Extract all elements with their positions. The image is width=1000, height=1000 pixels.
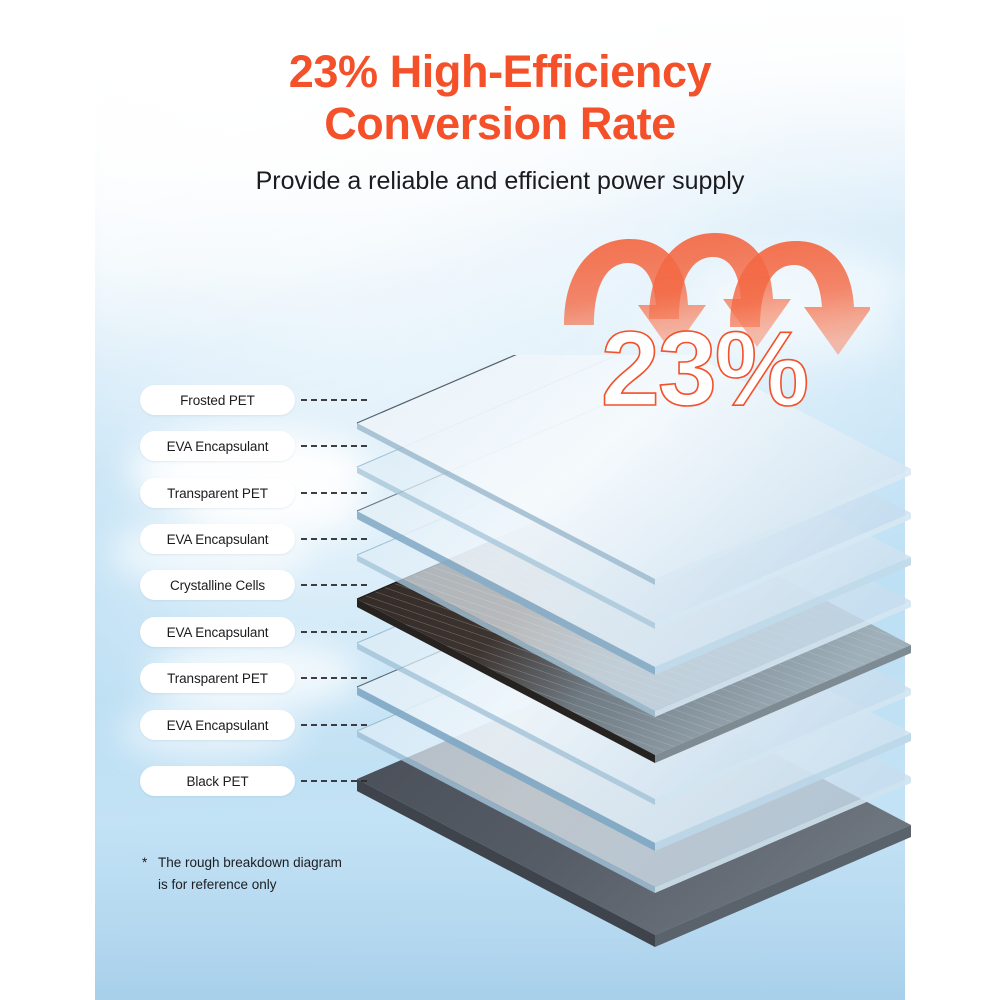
layer-label-eva-encapsulant-2[interactable]: EVA Encapsulant [140, 524, 367, 554]
layer-label-pill: Black PET [140, 766, 295, 796]
layer-label-pill: Transparent PET [140, 663, 295, 693]
layer-label-frosted-pet[interactable]: Frosted PET [140, 385, 367, 415]
layer-label-pill: Transparent PET [140, 478, 295, 508]
leader-line [301, 492, 367, 494]
leader-line [301, 538, 367, 540]
layer-label-pill: EVA Encapsulant [140, 431, 295, 461]
leader-line [301, 399, 367, 401]
layer-label-black-pet[interactable]: Black PET [140, 766, 367, 796]
layer-label-pill: EVA Encapsulant [140, 617, 295, 647]
footnote-line-1: The rough breakdown diagram [158, 852, 442, 874]
layer-label-eva-encapsulant-3[interactable]: EVA Encapsulant [140, 617, 367, 647]
layer-label-pill: EVA Encapsulant [140, 524, 295, 554]
footnote-line-2: is for reference only [158, 874, 442, 896]
layer-label-eva-encapsulant-1[interactable]: EVA Encapsulant [140, 431, 367, 461]
layer-label-list: Frosted PET EVA Encapsulant Transparent … [0, 0, 1000, 1000]
leader-line [301, 631, 367, 633]
leader-line [301, 445, 367, 447]
layer-label-pill: Frosted PET [140, 385, 295, 415]
layer-label-crystalline-cells[interactable]: Crystalline Cells [140, 570, 367, 600]
leader-line [301, 677, 367, 679]
infographic-root: 23% High-Efficiency Conversion Rate Prov… [0, 0, 1000, 1000]
leader-line [301, 724, 367, 726]
footnote: * The rough breakdown diagram is for ref… [142, 852, 442, 896]
leader-line [301, 584, 367, 586]
layer-label-transparent-pet-1[interactable]: Transparent PET [140, 478, 367, 508]
layer-label-pill: EVA Encapsulant [140, 710, 295, 740]
layer-label-pill: Crystalline Cells [140, 570, 295, 600]
leader-line [301, 780, 367, 782]
layer-label-eva-encapsulant-4[interactable]: EVA Encapsulant [140, 710, 367, 740]
footnote-asterisk: * [142, 852, 147, 874]
layer-label-transparent-pet-2[interactable]: Transparent PET [140, 663, 367, 693]
